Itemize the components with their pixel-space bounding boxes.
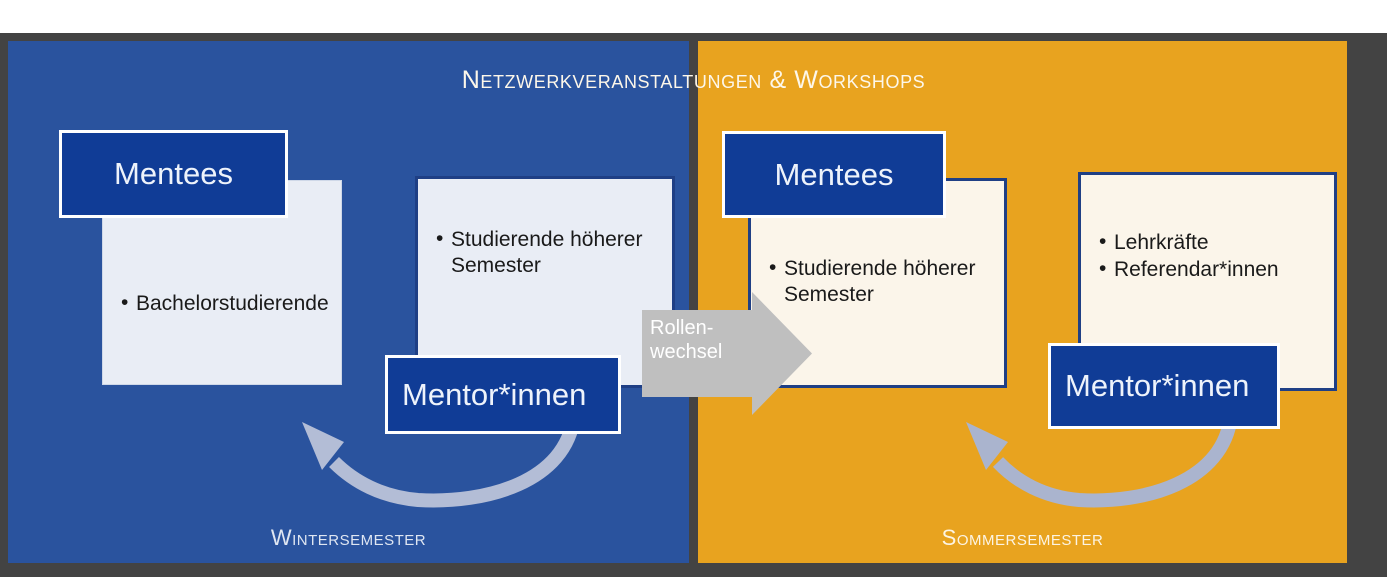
- header-tab-label: Mentees: [114, 156, 233, 192]
- bullet-list-winter-mentorinnen: Studierende höherer Semester: [418, 227, 672, 279]
- list-item: Referendar*innen: [1099, 257, 1320, 283]
- caption-wintersemester: Wintersemester: [8, 525, 689, 551]
- header-tab-label: Mentees: [775, 157, 894, 193]
- caption-sommersemester: Sommersemester: [698, 525, 1347, 551]
- bullet-list-winter-mentees: Bachelorstudierende: [103, 291, 341, 318]
- header-tab-label: Mentor*innen: [1065, 368, 1249, 404]
- header-tab-label: Mentor*innen: [402, 377, 586, 413]
- rollenwechsel-label-line2: wechsel: [650, 340, 750, 364]
- list-item: Lehrkräfte: [1099, 230, 1320, 256]
- header-tab-summer-mentorinnen: Mentor*innen: [1048, 343, 1280, 429]
- rollenwechsel-label: Rollen- wechsel: [650, 316, 750, 365]
- header-tab-winter-mentorinnen: Mentor*innen: [385, 355, 621, 434]
- bullet-list-summer-mentorinnen: Lehrkräfte Referendar*innen: [1081, 230, 1334, 283]
- diagram-canvas: Netzwerkveranstaltungen & Workshops Bach…: [0, 0, 1387, 577]
- rollenwechsel-arrow: Rollen- wechsel: [642, 292, 812, 415]
- list-item: Studierende höherer Semester: [436, 227, 658, 278]
- header-tab-winter-mentees: Mentees: [59, 130, 288, 218]
- list-item: Bachelorstudierende: [121, 291, 327, 317]
- banner-title: Netzwerkveranstaltungen & Workshops: [0, 66, 1387, 95]
- header-tab-summer-mentees: Mentees: [722, 131, 946, 218]
- rollenwechsel-label-line1: Rollen-: [650, 316, 750, 340]
